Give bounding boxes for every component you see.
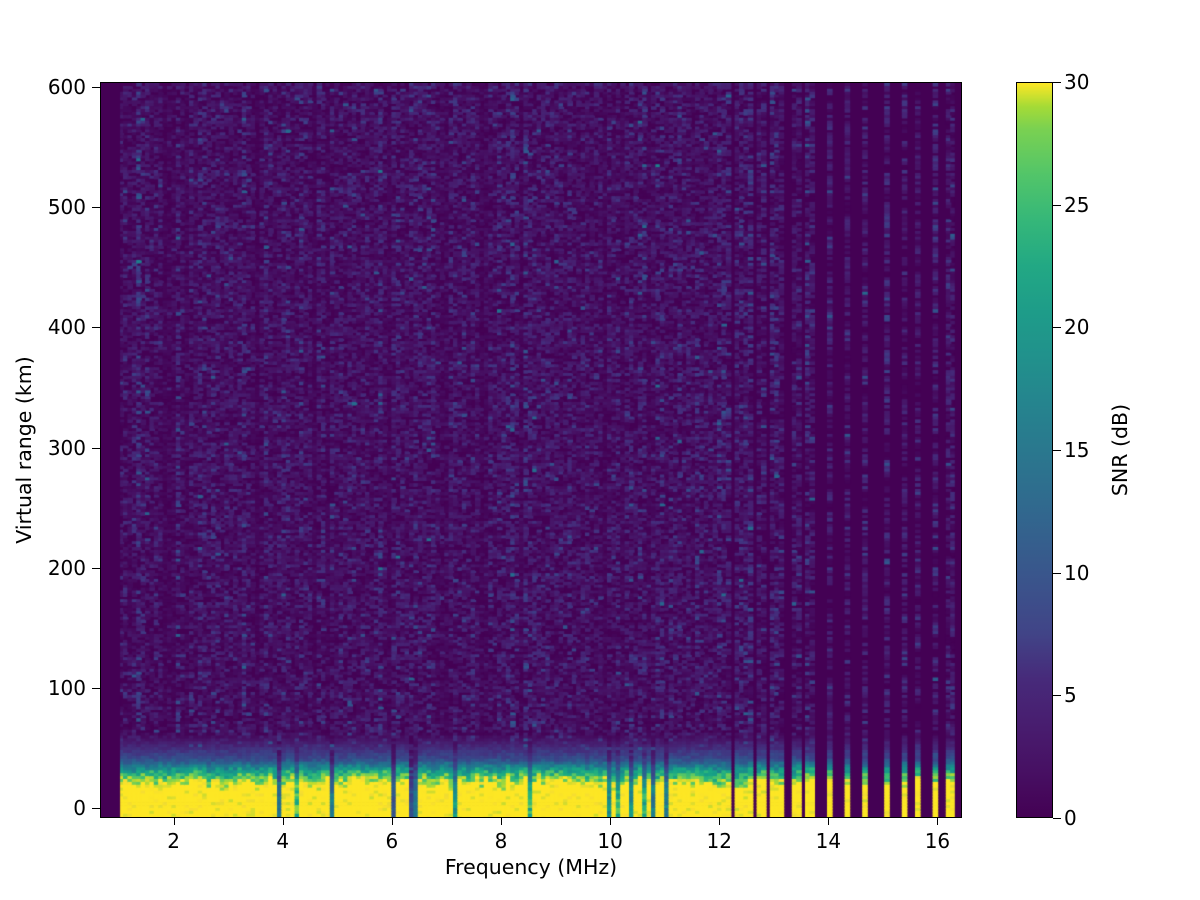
colorbar-tick-mark (1053, 573, 1061, 574)
y-tick-mark (92, 87, 100, 88)
colorbar-tick-label: 20 (1064, 315, 1089, 339)
y-tick-label: 600 (48, 75, 86, 99)
colorbar-tick-label: 10 (1064, 561, 1089, 585)
x-tick-label: 12 (706, 829, 731, 853)
colorbar-tick-label: 15 (1064, 438, 1089, 462)
colorbar-tick-label: 5 (1064, 683, 1077, 707)
y-tick-label: 300 (48, 436, 86, 460)
x-tick-label: 10 (597, 829, 622, 853)
y-tick-label: 0 (73, 796, 86, 820)
y-tick-mark (92, 568, 100, 569)
y-tick-mark (92, 207, 100, 208)
x-tick-label: 16 (925, 829, 950, 853)
x-tick-label: 2 (167, 829, 180, 853)
x-tick-label: 14 (816, 829, 841, 853)
x-tick-mark (501, 818, 502, 825)
y-tick-label: 200 (48, 556, 86, 580)
x-tick-mark (610, 818, 611, 825)
x-tick-mark (392, 818, 393, 825)
colorbar-label: SNR (dB) (1108, 404, 1132, 496)
y-tick-mark (92, 327, 100, 328)
x-tick-mark (174, 818, 175, 825)
colorbar-tick-label: 0 (1064, 806, 1077, 830)
x-tick-mark (283, 818, 284, 825)
x-tick-label: 4 (276, 829, 289, 853)
colorbar-tick-mark (1053, 205, 1061, 206)
snr-colorbar (1016, 82, 1053, 818)
x-tick-mark (719, 818, 720, 825)
x-tick-mark (937, 818, 938, 825)
colorbar-tick-mark (1053, 82, 1061, 83)
y-tick-mark (92, 688, 100, 689)
x-tick-mark (828, 818, 829, 825)
colorbar-tick-mark (1053, 450, 1061, 451)
ionogram-heatmap (101, 83, 962, 818)
y-tick-label: 400 (48, 315, 86, 339)
x-axis-label: Frequency (MHz) (100, 855, 962, 879)
colorbar-tick-mark (1053, 327, 1061, 328)
x-tick-label: 8 (495, 829, 508, 853)
ionogram-plot-area (100, 82, 962, 818)
colorbar-tick-mark (1053, 695, 1061, 696)
colorbar-tick-mark (1053, 818, 1061, 819)
colorbar-tick-label: 25 (1064, 193, 1089, 217)
y-tick-label: 500 (48, 195, 86, 219)
y-tick-mark (92, 808, 100, 809)
y-axis-label: Virtual range (km) (12, 356, 36, 543)
ionogram-figure: IRF Kiruna Ionosonde KI167 2025-10-04 12… (0, 0, 1200, 900)
x-tick-label: 6 (386, 829, 399, 853)
y-tick-mark (92, 448, 100, 449)
colorbar-tick-label: 30 (1064, 70, 1089, 94)
y-tick-label: 100 (48, 676, 86, 700)
